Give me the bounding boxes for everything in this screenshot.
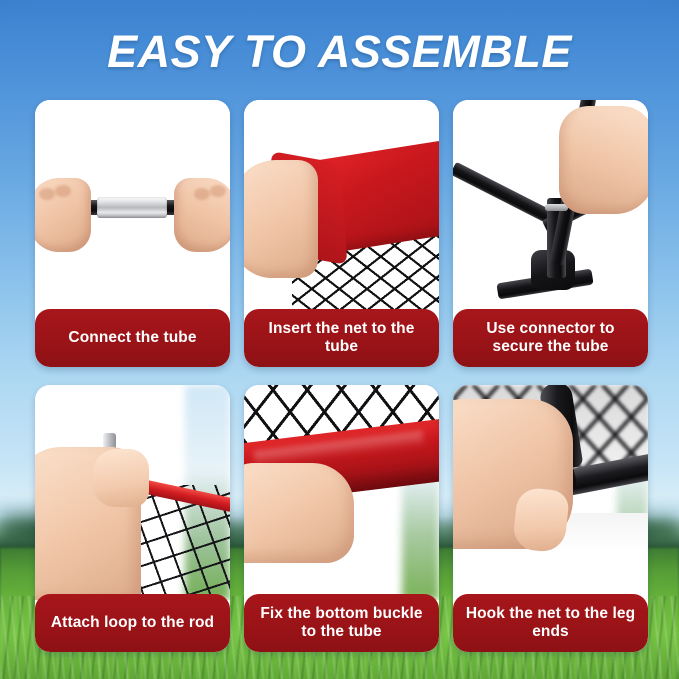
step-caption-6: Hook the net to the leg ends xyxy=(453,594,648,652)
fingers-shape xyxy=(93,449,149,507)
step-photo-5 xyxy=(244,385,439,600)
step-card-2: Insert the net to the tube xyxy=(244,100,439,367)
step-caption-3: Use connector to secure the tube xyxy=(453,309,648,367)
step-caption-1: Connect the tube xyxy=(35,309,230,367)
infographic-canvas: EASY TO ASSEMBLE Connect the tube xyxy=(0,0,679,679)
step-photo-2 xyxy=(244,100,439,315)
hand-shape xyxy=(559,106,648,214)
step-card-5: Fix the bottom buckle to the tube xyxy=(244,385,439,652)
step-caption-1-text: Connect the tube xyxy=(68,329,196,347)
page-title: EASY TO ASSEMBLE xyxy=(0,26,679,78)
right-hand-shape xyxy=(174,178,230,252)
step-caption-5-text: Fix the bottom buckle to the tube xyxy=(251,605,432,641)
steps-grid: Connect the tube Insert the net to the t… xyxy=(35,100,644,652)
step-caption-5: Fix the bottom buckle to the tube xyxy=(244,594,439,652)
step-photo-6 xyxy=(453,385,648,600)
step-card-6: Hook the net to the leg ends xyxy=(453,385,648,652)
hand-shape xyxy=(244,160,318,278)
left-hand-shape xyxy=(35,178,91,252)
step-card-3: Use connector to secure the tube xyxy=(453,100,648,367)
step-card-1: Connect the tube xyxy=(35,100,230,367)
chrome-connector-shape xyxy=(97,197,167,218)
step-card-4: Attach loop to the rod xyxy=(35,385,230,652)
step-photo-1 xyxy=(35,100,230,315)
step-caption-2-text: Insert the net to the tube xyxy=(251,320,432,356)
hand-shape xyxy=(244,463,354,563)
step-photo-3 xyxy=(453,100,648,315)
step-caption-2: Insert the net to the tube xyxy=(244,309,439,367)
step-caption-6-text: Hook the net to the leg ends xyxy=(460,605,641,641)
step-photo-4 xyxy=(35,385,230,600)
step-caption-4: Attach loop to the rod xyxy=(35,594,230,652)
step-caption-3-text: Use connector to secure the tube xyxy=(460,320,641,356)
step-caption-4-text: Attach loop to the rod xyxy=(51,614,214,632)
